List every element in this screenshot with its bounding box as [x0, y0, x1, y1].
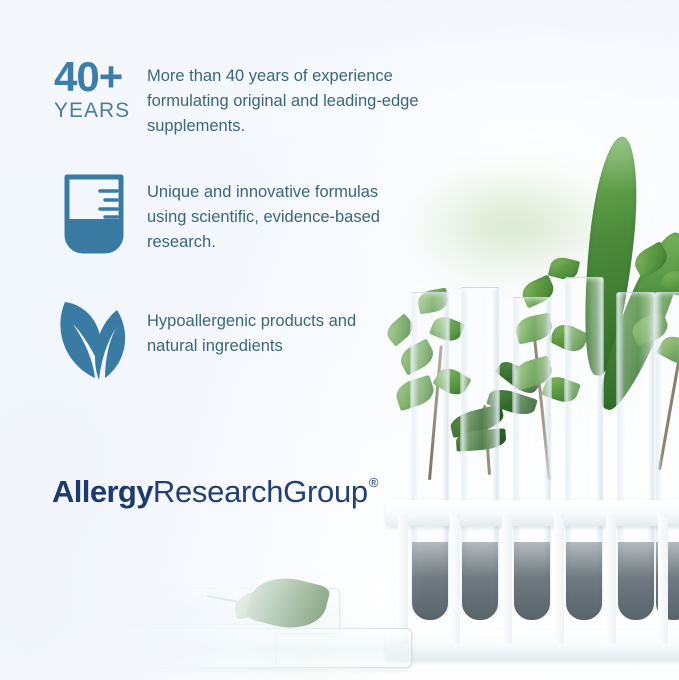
years-badge: 40+ YEARS [54, 56, 142, 121]
feature-text-hypoallergenic: Hypoallergenic products and natural ingr… [147, 309, 397, 359]
brand-logo: AllergyResearchGroup® [52, 476, 377, 507]
leaf-icon [55, 294, 137, 380]
logo-word-allergy: Allergy [52, 474, 153, 509]
poster-content: 40+ YEARS More than 40 years of experien… [0, 0, 679, 680]
feature-text-formulas: Unique and innovative formulas using sci… [147, 180, 397, 255]
registered-trademark-icon: ® [369, 475, 379, 490]
feature-text-experience: More than 40 years of experience formula… [147, 64, 427, 139]
beaker-icon [57, 172, 131, 256]
logo-word-research-group: ResearchGroup [153, 474, 368, 509]
product-marketing-poster: 40+ YEARS More than 40 years of experien… [0, 0, 679, 680]
years-badge-number: 40+ [54, 56, 142, 98]
years-badge-unit: YEARS [54, 100, 142, 121]
